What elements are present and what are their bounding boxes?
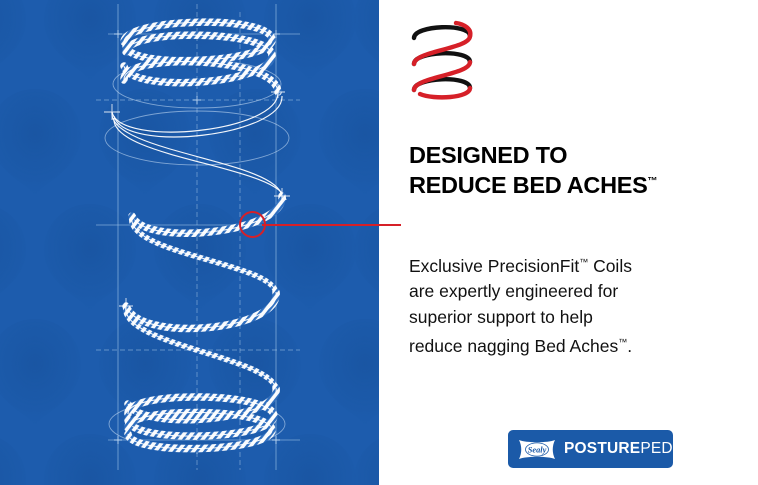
body-line-1-trademark: ™ — [579, 257, 588, 267]
posturepedic-wordmark: POSTUREPEDIC — [564, 440, 689, 458]
coil-blueprint-drawing: .cl{stroke:#9fc4e8;stroke-width:.8;fill:… — [0, 0, 379, 485]
headline: DESIGNED TO REDUCE BED ACHES™ — [409, 143, 739, 198]
coil-spring-icon — [404, 18, 480, 100]
sealy-posturepedic-logo[interactable]: Sealy POSTUREPEDIC — [508, 430, 673, 468]
headline-line-1: DESIGNED TO — [409, 143, 739, 169]
body-line-1: Exclusive PrecisionFit™ Coils — [409, 250, 709, 279]
headline-trademark: ™ — [648, 176, 658, 187]
body-line-1-a: Exclusive PrecisionFit — [409, 256, 579, 276]
body-line-2: are expertly engineered for — [409, 279, 709, 305]
body-line-4: reduce nagging Bed Aches™. — [409, 330, 709, 359]
red-callout-line — [262, 224, 401, 226]
blueprint-illustration-panel: .cl{stroke:#9fc4e8;stroke-width:.8;fill:… — [0, 0, 379, 485]
body-copy: Exclusive PrecisionFit™ Coils are expert… — [409, 250, 709, 360]
body-line-4-a: reduce nagging Bed Aches — [409, 336, 618, 356]
wordmark-posture: POSTURE — [564, 440, 640, 457]
body-line-3: superior support to help — [409, 305, 709, 331]
infographic-root: .cl{stroke:#9fc4e8;stroke-width:.8;fill:… — [0, 0, 758, 485]
body-line-4-trademark: ™ — [618, 337, 627, 347]
red-callout-circle — [239, 211, 266, 238]
sealy-badge-icon: Sealy — [517, 438, 557, 461]
sealy-badge-text: Sealy — [528, 445, 547, 454]
headline-line-2: REDUCE BED ACHES™ — [409, 169, 739, 198]
headline-line-2-text: REDUCE BED ACHES — [409, 171, 648, 197]
wordmark-pedic: PEDIC — [640, 440, 688, 457]
body-line-4-b: . — [627, 336, 632, 356]
body-line-1-b: Coils — [588, 256, 632, 276]
